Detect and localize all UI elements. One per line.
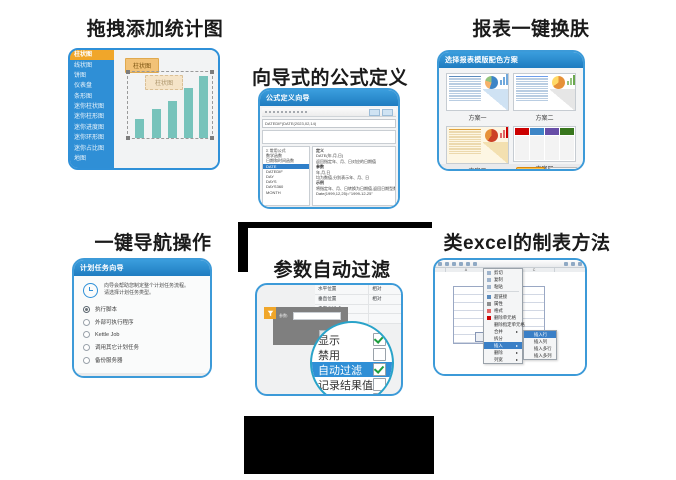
filter-funnel-icon[interactable] bbox=[264, 307, 276, 319]
bar-2 bbox=[168, 101, 177, 138]
chart-type-item-10[interactable]: 地图 bbox=[70, 154, 114, 164]
skin-label-1: 方案二 bbox=[513, 113, 576, 122]
heading-drag-chart: 拖拽添加统计图 bbox=[75, 14, 235, 41]
skin-option-2[interactable]: 方案三 bbox=[446, 126, 509, 171]
toolbar-dot-icon bbox=[305, 111, 307, 113]
task-option-label-4: 备份服务器 bbox=[95, 356, 123, 364]
toolbar-dot-icon bbox=[269, 111, 271, 113]
toolbar-chip-button[interactable] bbox=[382, 109, 393, 116]
parameter-label: 参数: bbox=[279, 313, 288, 319]
magnifier-lens: 显示 禁用 自动过滤 记录结果值 自动计算 bbox=[310, 321, 394, 396]
heading-skin: 报表一键换肤 bbox=[443, 14, 619, 41]
chart-type-item-4[interactable]: 条形图 bbox=[70, 92, 114, 102]
menu-item-5[interactable]: 格式 bbox=[484, 307, 522, 314]
redo-icon[interactable] bbox=[452, 262, 456, 266]
function-detail: 定义 DATE(年,月,日) 返回指定年、月、日对应的日期值 参数 年,月,日 … bbox=[312, 146, 396, 206]
chevron-right-icon: ▸ bbox=[516, 357, 518, 362]
menu-item-12[interactable]: 列宽▸ bbox=[484, 356, 522, 363]
chart-type-item-1[interactable]: 线状图 bbox=[70, 60, 114, 70]
task-option-4[interactable]: 备份服务器 bbox=[83, 356, 201, 364]
property-value-2[interactable] bbox=[369, 305, 401, 314]
task-option-label-3: 调用其它计划任务 bbox=[95, 343, 139, 351]
decor-black-block bbox=[244, 416, 434, 474]
resize-handle-sw[interactable] bbox=[126, 136, 130, 140]
submenu-item-1[interactable]: 插入列 bbox=[524, 338, 556, 345]
delete-cells-icon bbox=[487, 323, 491, 327]
toolbar-dot-icon bbox=[273, 111, 275, 113]
lens-label-0: 显示 bbox=[318, 332, 340, 348]
radio-icon[interactable] bbox=[83, 319, 90, 326]
area-icon bbox=[483, 89, 508, 110]
chart-type-item-2[interactable]: 饼图 bbox=[70, 71, 114, 81]
heading-auto-filter: 参数自动过滤 bbox=[262, 255, 402, 282]
submenu-item-3[interactable]: 插入多列 bbox=[524, 352, 556, 359]
chart-type-item-0[interactable]: 柱状图 bbox=[70, 50, 114, 60]
formula-input[interactable]: DATEDIF(DATE(2023,02,14) bbox=[262, 119, 396, 128]
paste-icon bbox=[487, 285, 491, 289]
property-name-0: 水平位置 bbox=[315, 285, 369, 294]
alarm-clock-icon bbox=[83, 283, 98, 298]
heading-formula-wizard: 向导式的公式定义 bbox=[245, 63, 415, 90]
donut-icon bbox=[552, 76, 565, 89]
menu-item-2[interactable]: 粘贴 bbox=[484, 283, 522, 290]
remove-icon bbox=[487, 351, 491, 355]
heading-task-wizard: 一键导航操作 bbox=[90, 228, 216, 255]
cut-icon[interactable] bbox=[466, 262, 470, 266]
menu-item-8[interactable]: 合并▸ bbox=[484, 328, 522, 335]
property-value-1[interactable]: 相对 bbox=[369, 295, 401, 304]
checkbox-icon[interactable] bbox=[373, 393, 386, 396]
task-option-1[interactable]: 外部可执行程序 bbox=[83, 318, 201, 326]
function-tree[interactable]: Σ 常用公式 数学函数 日期和时间函数 DATE DATEDIF DAY DAY… bbox=[262, 146, 310, 206]
radio-icon[interactable] bbox=[83, 331, 90, 338]
toolbar-dot-icon bbox=[293, 111, 295, 113]
poster-canvas: 拖拽添加统计图 柱状图 线状图 饼图 仪表盘 条形图 迷你柱状图 迷你柱形图 迷… bbox=[0, 0, 676, 480]
bold-icon[interactable] bbox=[564, 262, 568, 266]
lens-item-3[interactable]: 记录结果值 bbox=[312, 377, 392, 392]
mini-table bbox=[447, 127, 483, 163]
skin-thumb-0 bbox=[446, 73, 509, 111]
task-note-line1: 向导会帮助您制定整个计划任务流程。 bbox=[104, 283, 189, 290]
mini-table bbox=[447, 74, 483, 110]
task-option-0[interactable]: 执行脚本 bbox=[83, 305, 201, 313]
insert-columns-icon bbox=[527, 354, 531, 358]
context-submenu[interactable]: 插入行 插入列 插入多行 插入多列 bbox=[523, 330, 557, 360]
decor-black-top-bar bbox=[238, 222, 432, 228]
formula-wizard-panel: 公式定义向导 DATEDIF(DATE(2023,02,14) bbox=[258, 88, 400, 209]
formula-preview-area bbox=[262, 130, 396, 144]
toolbar-dot-icon bbox=[277, 111, 279, 113]
task-dialog-title: 计划任务向导 bbox=[74, 260, 210, 276]
skin-panel: 选择报表模版配色方案 bbox=[437, 50, 585, 171]
chart-selection-box[interactable] bbox=[127, 71, 213, 139]
copy-icon bbox=[487, 278, 491, 282]
checkbox-icon[interactable] bbox=[373, 378, 386, 391]
color-icon[interactable] bbox=[578, 262, 582, 266]
lens-label-4: 自动计算 bbox=[318, 392, 362, 397]
formula-toolbar[interactable] bbox=[262, 108, 396, 117]
skin-label-0: 方案一 bbox=[446, 113, 509, 122]
chevron-right-icon: ▸ bbox=[516, 350, 518, 355]
bar-4 bbox=[199, 76, 208, 138]
menu-item-3[interactable]: 超链接 bbox=[484, 293, 522, 300]
submenu-item-0[interactable]: 插入行 bbox=[524, 331, 556, 338]
tree-node-8[interactable]: MONTH bbox=[263, 190, 309, 195]
bar-3 bbox=[184, 88, 193, 138]
formula-dialog-title: 公式定义向导 bbox=[260, 90, 398, 106]
lens-label-3: 记录结果值 bbox=[318, 377, 373, 393]
resize-handle-ne[interactable] bbox=[210, 70, 214, 74]
minibars-icon bbox=[567, 74, 575, 85]
skin-ok-button[interactable]: 确定 bbox=[516, 167, 545, 171]
insert-rows-icon bbox=[527, 347, 531, 351]
chart-type-item-6[interactable]: 迷你柱形图 bbox=[70, 112, 114, 122]
property-value-0[interactable]: 相对 bbox=[369, 285, 401, 294]
heading-excel: 类excel的制表方法 bbox=[437, 228, 617, 255]
bar-1 bbox=[152, 109, 161, 138]
menu-item-10[interactable]: 插入▸ bbox=[484, 342, 522, 349]
checkbox-icon[interactable] bbox=[373, 348, 386, 361]
mini-table bbox=[514, 74, 550, 110]
chart-type-item-3[interactable]: 仪表盘 bbox=[70, 81, 114, 91]
insert-icon bbox=[487, 344, 491, 348]
task-note-line2: 请选择计划任务类型。 bbox=[104, 290, 189, 297]
toolbar-chip-button[interactable] bbox=[369, 109, 380, 116]
skin-thumb-1 bbox=[513, 73, 576, 111]
insert-column-icon bbox=[527, 340, 531, 344]
copy-icon[interactable] bbox=[473, 262, 477, 266]
save-icon[interactable] bbox=[438, 262, 442, 266]
detail-line-5: Date(1999,12,25)="1999-12-25" bbox=[313, 191, 395, 196]
submenu-item-2[interactable]: 插入多行 bbox=[524, 345, 556, 352]
resize-handle-nw[interactable] bbox=[126, 70, 130, 74]
formula-dialog-footer: 确定 取消 bbox=[260, 206, 398, 209]
donut-icon bbox=[485, 129, 498, 142]
radio-icon[interactable] bbox=[83, 306, 90, 313]
italic-icon[interactable] bbox=[571, 262, 575, 266]
chevron-right-icon: ▸ bbox=[516, 329, 518, 334]
toolbar-dot-icon bbox=[297, 111, 299, 113]
resize-handle-se[interactable] bbox=[210, 136, 214, 140]
task-option-label-0: 执行脚本 bbox=[95, 305, 117, 313]
properties-icon bbox=[487, 302, 491, 306]
toolbar-dot-icon bbox=[301, 111, 303, 113]
skin-options-grid[interactable]: 方案一 bbox=[439, 68, 583, 171]
drag-chart-panel: 柱状图 线状图 饼图 仪表盘 条形图 迷你柱状图 迷你柱形图 迷你进度图 迷你环… bbox=[68, 48, 220, 170]
skin-thumb-3 bbox=[513, 126, 576, 162]
menu-item-1[interactable]: 复制 bbox=[484, 276, 522, 283]
donut-icon bbox=[485, 76, 498, 89]
skin-option-3[interactable]: 方案四 bbox=[513, 126, 576, 171]
merge-icon bbox=[487, 330, 491, 334]
lens-item-0[interactable]: 显示 bbox=[312, 332, 392, 347]
undo-icon[interactable] bbox=[445, 262, 449, 266]
radio-icon[interactable] bbox=[83, 344, 90, 351]
lens-label-1: 禁用 bbox=[318, 347, 340, 363]
chart-type-item-7[interactable]: 迷你进度图 bbox=[70, 123, 114, 133]
menu-item-4[interactable]: 属性 bbox=[484, 300, 522, 307]
bar-0 bbox=[135, 119, 144, 138]
lens-label-2: 自动过滤 bbox=[318, 362, 362, 378]
lens-item-4[interactable]: 自动计算 bbox=[312, 392, 392, 396]
column-width-icon bbox=[487, 358, 491, 362]
property-value-3[interactable] bbox=[369, 314, 401, 323]
toolbar-dot-icon bbox=[265, 111, 267, 113]
property-name-1: 垂直位置 bbox=[315, 295, 369, 304]
auto-filter-panel: 水平位置 相对 垂直位置 相对 自定义样式 背景颜色 参数: 查询 bbox=[255, 283, 403, 396]
decor-black-left-bar bbox=[238, 222, 248, 272]
link-icon bbox=[487, 295, 491, 299]
excel-toolbar[interactable] bbox=[435, 260, 585, 268]
print-icon[interactable] bbox=[459, 262, 463, 266]
skin-thumb-2 bbox=[446, 126, 509, 164]
property-row: 垂直位置 相对 bbox=[315, 295, 401, 305]
task-option-label-1: 外部可执行程序 bbox=[95, 318, 134, 326]
excel-panel: A B C 剪切 复制 粘贴 超链接 属性 格式 删除单元格 删除指定单元格 合… bbox=[433, 258, 587, 376]
area-icon bbox=[550, 89, 575, 110]
format-icon bbox=[487, 309, 491, 313]
toolbar-dot-icon bbox=[281, 111, 283, 113]
split-icon bbox=[487, 337, 491, 341]
skin-cancel-button[interactable]: 取消 bbox=[549, 167, 578, 171]
menu-item-9[interactable]: 拆分 bbox=[484, 335, 522, 342]
chart-type-item-8[interactable]: 迷你环形图 bbox=[70, 133, 114, 143]
task-next-button[interactable]: 下一步 bbox=[137, 376, 173, 378]
chart-canvas[interactable]: 柱状图 柱状图 bbox=[114, 50, 218, 168]
chart-type-sidebar[interactable]: 柱状图 线状图 饼图 仪表盘 条形图 迷你柱状图 迷你柱形图 迷你进度图 迷你环… bbox=[70, 50, 114, 168]
menu-item-6[interactable]: 删除单元格 bbox=[484, 314, 522, 321]
chart-type-item-5[interactable]: 迷你柱状图 bbox=[70, 102, 114, 112]
skin-dialog-title: 选择报表模版配色方案 bbox=[439, 52, 583, 68]
minibars-icon bbox=[500, 74, 508, 85]
parameter-combo[interactable] bbox=[293, 312, 341, 320]
minibars-icon bbox=[500, 127, 508, 138]
delete-icon bbox=[487, 316, 491, 320]
task-wizard-panel: 计划任务向导 向导会帮助您制定整个计划任务流程。 请选择计划任务类型。 执行脚本… bbox=[72, 258, 212, 378]
checkbox-icon[interactable] bbox=[373, 363, 386, 376]
task-option-2[interactable]: Kettle Job bbox=[83, 331, 201, 338]
toolbar-dot-icon bbox=[285, 111, 287, 113]
task-option-label-2: Kettle Job bbox=[95, 332, 119, 338]
radio-icon[interactable] bbox=[83, 357, 90, 364]
task-option-3[interactable]: 调用其它计划任务 bbox=[83, 343, 201, 351]
skin-option-0[interactable]: 方案一 bbox=[446, 73, 509, 122]
menu-item-11[interactable]: 删除▸ bbox=[484, 349, 522, 356]
skin-label-2: 方案三 bbox=[446, 166, 509, 171]
chart-type-item-9[interactable]: 迷你占比图 bbox=[70, 143, 114, 153]
insert-row-icon bbox=[527, 333, 531, 337]
skin-option-1[interactable]: 方案二 bbox=[513, 73, 576, 122]
menu-item-0[interactable]: 剪切 bbox=[484, 269, 522, 276]
task-cancel-button[interactable]: 取消 bbox=[176, 376, 205, 378]
cut-icon bbox=[487, 271, 491, 275]
context-menu[interactable]: 剪切 复制 粘贴 超链接 属性 格式 删除单元格 删除指定单元格 合并▸ 拆分 … bbox=[483, 268, 523, 364]
lens-item-2[interactable]: 自动过滤 bbox=[312, 362, 392, 377]
checkbox-icon[interactable] bbox=[373, 333, 386, 346]
toolbar-dot-icon bbox=[289, 111, 291, 113]
area-icon bbox=[483, 142, 508, 163]
menu-item-7[interactable]: 删除指定单元格 bbox=[484, 321, 522, 328]
lens-item-1[interactable]: 禁用 bbox=[312, 347, 392, 362]
task-dialog-footer: 下一步 取消 bbox=[74, 373, 210, 378]
property-row: 水平位置 相对 bbox=[315, 285, 401, 295]
chevron-right-icon: ▸ bbox=[516, 343, 518, 348]
